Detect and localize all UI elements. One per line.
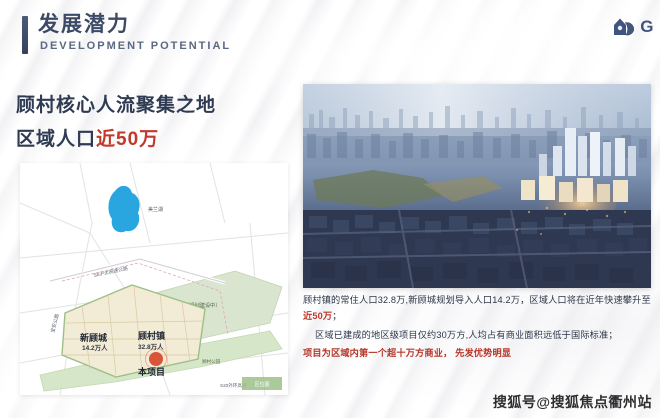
copy-paragraph-2: 区域已建成的地区级项目仅约30万方,人均占有商业面积远低于国际标准； [303, 328, 653, 344]
lead-headline-line-1: 顾村核心人流聚集之地 [16, 92, 216, 120]
zone-population-newcheng: 14.2万人 [82, 343, 108, 352]
map-lake-label: 美兰湖 [148, 206, 163, 213]
lead-headline-block: 顾村核心人流聚集之地 区域人口近50万 [16, 92, 216, 153]
watermark-text: 搜狐号@搜狐焦点衢州站 [493, 392, 652, 412]
zone-label-newcheng: 新顾城 [80, 332, 107, 343]
aerial-graphic [303, 84, 651, 288]
district-planning-map: 生态绿心（规划建设中） 美兰湖 顾村公园 [20, 163, 288, 395]
home-shield-logo-icon [612, 16, 636, 38]
lead-headline-emphasis: 近50万 [96, 129, 159, 150]
copy-p1-text-b: ； [332, 311, 341, 321]
presentation-slide: 发展潜力 DEVELOPMENT POTENTIAL G 顾村核心人流聚集之地 … [0, 0, 660, 418]
header-accent-bar [22, 16, 28, 54]
header-title-english: DEVELOPMENT POTENTIAL [40, 40, 231, 52]
aerial-city-rendering [303, 84, 651, 288]
map-legend-label: 区位图 [254, 381, 269, 388]
header-title-chinese: 发展潜力 [38, 13, 130, 37]
copy-paragraph-1: 顾村镇的常住人口32.8万,新顾城规划导入人口14.2万，区域人口将在近年快速攀… [303, 293, 653, 325]
brand-logo: G [612, 16, 654, 38]
copy-p1-emphasis: 近50万 [303, 311, 332, 321]
slide-header: 发展潜力 DEVELOPMENT POTENTIAL G [0, 0, 660, 72]
zone-label-gucun: 顾村镇 [138, 330, 165, 341]
body-copy-block: 顾村镇的常住人口32.8万,新顾城规划导入人口14.2万，区域人口将在近年快速攀… [303, 293, 653, 362]
lead-headline-prefix: 区域人口 [16, 129, 96, 150]
map-legend-chip: 区位图 [242, 377, 282, 390]
copy-p1-text-a: 顾村镇的常住人口32.8万,新顾城规划导入人口14.2万，区域人口将在近年快速攀… [303, 295, 651, 305]
map-graphic: 生态绿心（规划建设中） 美兰湖 顾村公园 [20, 163, 288, 395]
copy-paragraph-3-highlight: 项目为区域内第一个超十万方商业， 先发优势明显 [303, 346, 653, 362]
lead-headline-line-2: 区域人口近50万 [16, 126, 216, 154]
project-marker-label: 本项目 [138, 366, 165, 377]
brand-logo-text: G [640, 17, 654, 37]
map-park-label: 顾村公园 [202, 358, 221, 365]
